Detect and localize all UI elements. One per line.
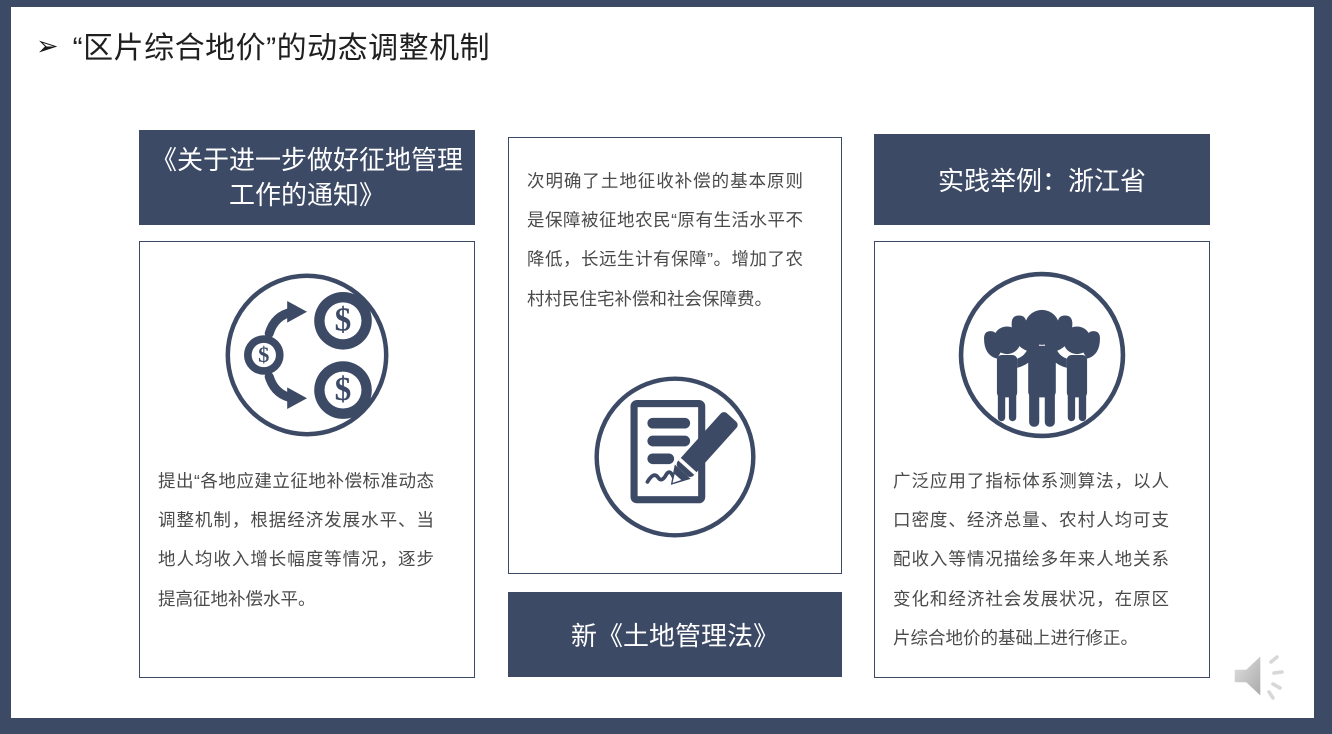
money-exchange-icon: $ $ $ [139,255,475,455]
right-header-banner: 实践举例：浙江省 [874,134,1210,225]
middle-body-text: 次明确了土地征收补偿的基本原则是保障被征地农民“原有生活水平不降低，长远生计有保… [497,162,833,319]
svg-text:$: $ [335,302,352,339]
page-title-text: “区片综合地价”的动态调整机制 [73,23,490,67]
svg-text:$: $ [335,371,352,408]
right-body-text: 广泛应用了指标体系测算法，以人口密度、经济总量、农村人均可支配收入等情况描绘多年… [863,462,1199,658]
middle-footer-banner: 新《土地管理法》 [508,592,842,677]
right-header-text: 实践举例：浙江省 [938,161,1146,198]
left-header-text: 《关于进一步做好征地管理工作的通知》 [149,143,465,212]
left-header-banner: 《关于进一步做好征地管理工作的通知》 [139,130,475,225]
middle-footer-text: 新《土地管理法》 [571,616,779,653]
bullet-arrow-icon: ➢ [36,33,59,60]
svg-text:$: $ [258,342,269,367]
left-body-text: 提出“各地应建立征地补偿标准动态调整机制，根据经济发展水平、当地人均收入增长幅度… [128,462,464,619]
three-people-icon [874,255,1210,455]
speaker-volume-icon[interactable] [1228,646,1298,706]
slide-root: ➢ “区片综合地价”的动态调整机制 《关于进一步做好征地管理工作的通知》 $ [0,0,1332,734]
document-signature-icon [508,362,842,552]
slide-canvas: ➢ “区片综合地价”的动态调整机制 《关于进一步做好征地管理工作的通知》 $ [11,7,1314,718]
page-title: ➢ “区片综合地价”的动态调整机制 [36,23,490,67]
